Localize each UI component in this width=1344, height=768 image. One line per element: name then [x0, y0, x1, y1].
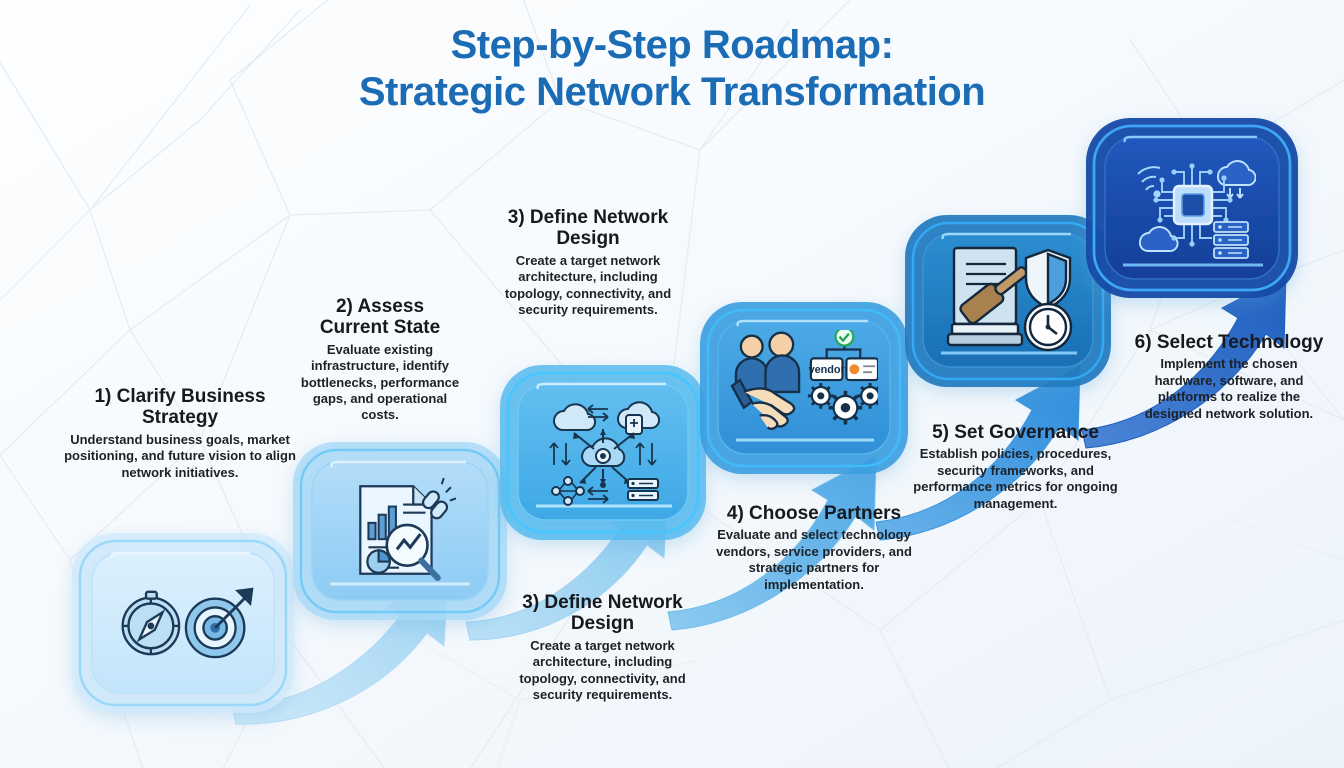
step-4-body: Evaluate and select technology vendors, …: [715, 527, 913, 593]
step-3-duplicate-heading: 3) Define Network Design: [505, 592, 700, 635]
step-5-heading: 5) Set Governance: [913, 422, 1118, 443]
step-text-4: 4) Choose Partners Evaluate and select t…: [715, 503, 913, 593]
step-3-heading: 3) Define Network Design: [488, 207, 688, 250]
step-3-duplicate-body: Create a target network architecture, in…: [505, 638, 700, 704]
step-2-body: Evaluate existing infrastructure, identi…: [300, 342, 460, 424]
step-1-body: Understand business goals, market positi…: [60, 432, 300, 481]
step-4-heading: 4) Choose Partners: [715, 503, 913, 524]
step-2-heading: 2) Assess Current State: [300, 296, 460, 339]
step-card-2[interactable]: [293, 442, 507, 620]
step-card-4[interactable]: [700, 302, 908, 474]
step-5-body: Establish policies, procedures, security…: [913, 446, 1118, 512]
step-text-3: 3) Define Network Design Create a target…: [488, 207, 688, 318]
step-text-1: 1) Clarify Business Strategy Understand …: [60, 386, 300, 481]
step-card-5[interactable]: [905, 215, 1111, 387]
step-text-3-duplicate: 3) Define Network Design Create a target…: [505, 592, 700, 703]
step-card-1[interactable]: [72, 533, 294, 713]
step-1-heading: 1) Clarify Business Strategy: [60, 386, 300, 429]
step-6-heading: 6) Select Technology: [1130, 332, 1328, 353]
step-text-5: 5) Set Governance Establish policies, pr…: [913, 422, 1118, 512]
step-3-body: Create a target network architecture, in…: [488, 253, 688, 319]
page-title: Step-by-Step Roadmap: Strategic Network …: [0, 22, 1344, 116]
step-text-6: 6) Select Technology Implement the chose…: [1130, 332, 1328, 422]
step-text-2: 2) Assess Current State Evaluate existin…: [300, 296, 460, 424]
title-line-1: Step-by-Step Roadmap:: [451, 23, 894, 67]
step-card-6[interactable]: [1086, 118, 1298, 298]
title-line-2: Strategic Network Transformation: [0, 69, 1344, 116]
step-6-body: Implement the chosen hardware, software,…: [1130, 356, 1328, 422]
step-card-3[interactable]: [500, 365, 706, 540]
